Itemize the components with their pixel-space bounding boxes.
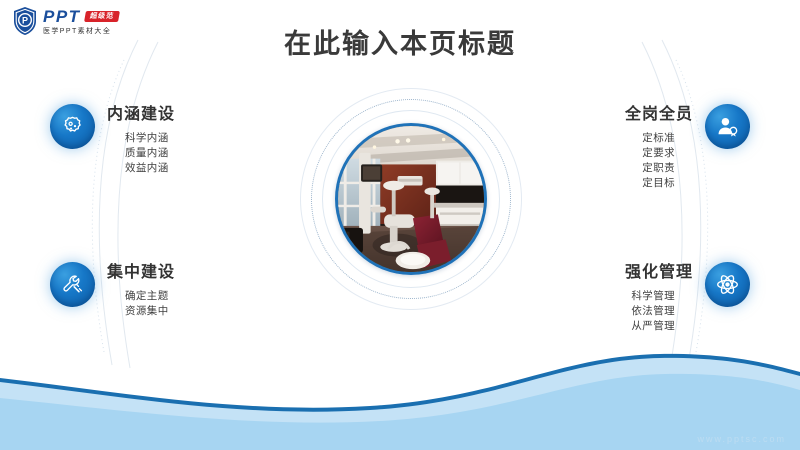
list-item: 效益内涵 bbox=[125, 161, 175, 176]
block-title: 强化管理 bbox=[625, 264, 693, 282]
list-item: 质量内涵 bbox=[125, 146, 175, 161]
microbe-icon bbox=[50, 104, 95, 149]
content-block-bottom-left[interactable]: 集中建设 确定主题 资源集中 bbox=[50, 262, 175, 319]
list-item: 定要求 bbox=[625, 146, 675, 161]
logo-badge: 超级范 bbox=[84, 11, 120, 22]
block-list: 定标准 定要求 定职责 定目标 bbox=[625, 131, 693, 192]
list-item: 依法管理 bbox=[625, 304, 675, 319]
page-title: 在此输入本页标题 bbox=[0, 22, 800, 61]
wrench-icon bbox=[50, 262, 95, 307]
block-list: 科学内涵 质量内涵 效益内涵 bbox=[107, 131, 175, 177]
list-item: 定标准 bbox=[625, 131, 675, 146]
center-medallion bbox=[300, 88, 522, 310]
list-item: 定目标 bbox=[625, 176, 675, 191]
content-block-top-left[interactable]: 内涵建设 科学内涵 质量内涵 效益内涵 bbox=[50, 104, 175, 176]
center-photo bbox=[335, 123, 487, 275]
content-block-top-right[interactable]: 全岗全员 定标准 定要求 定职责 定目标 bbox=[625, 104, 750, 191]
block-title: 全岗全员 bbox=[625, 106, 693, 124]
block-list: 确定主题 资源集中 bbox=[107, 289, 175, 319]
user-profile-icon bbox=[705, 104, 750, 149]
watermark: www.pptsc.com bbox=[697, 434, 786, 444]
list-item: 科学内涵 bbox=[125, 131, 175, 146]
footer-wave bbox=[0, 320, 800, 450]
list-item: 定职责 bbox=[625, 161, 675, 176]
list-item: 确定主题 bbox=[125, 289, 175, 304]
atom-icon bbox=[705, 262, 750, 307]
block-title: 集中建设 bbox=[107, 264, 175, 282]
list-item: 科学管理 bbox=[625, 289, 675, 304]
block-title: 内涵建设 bbox=[107, 106, 175, 124]
list-item: 资源集中 bbox=[125, 304, 175, 319]
